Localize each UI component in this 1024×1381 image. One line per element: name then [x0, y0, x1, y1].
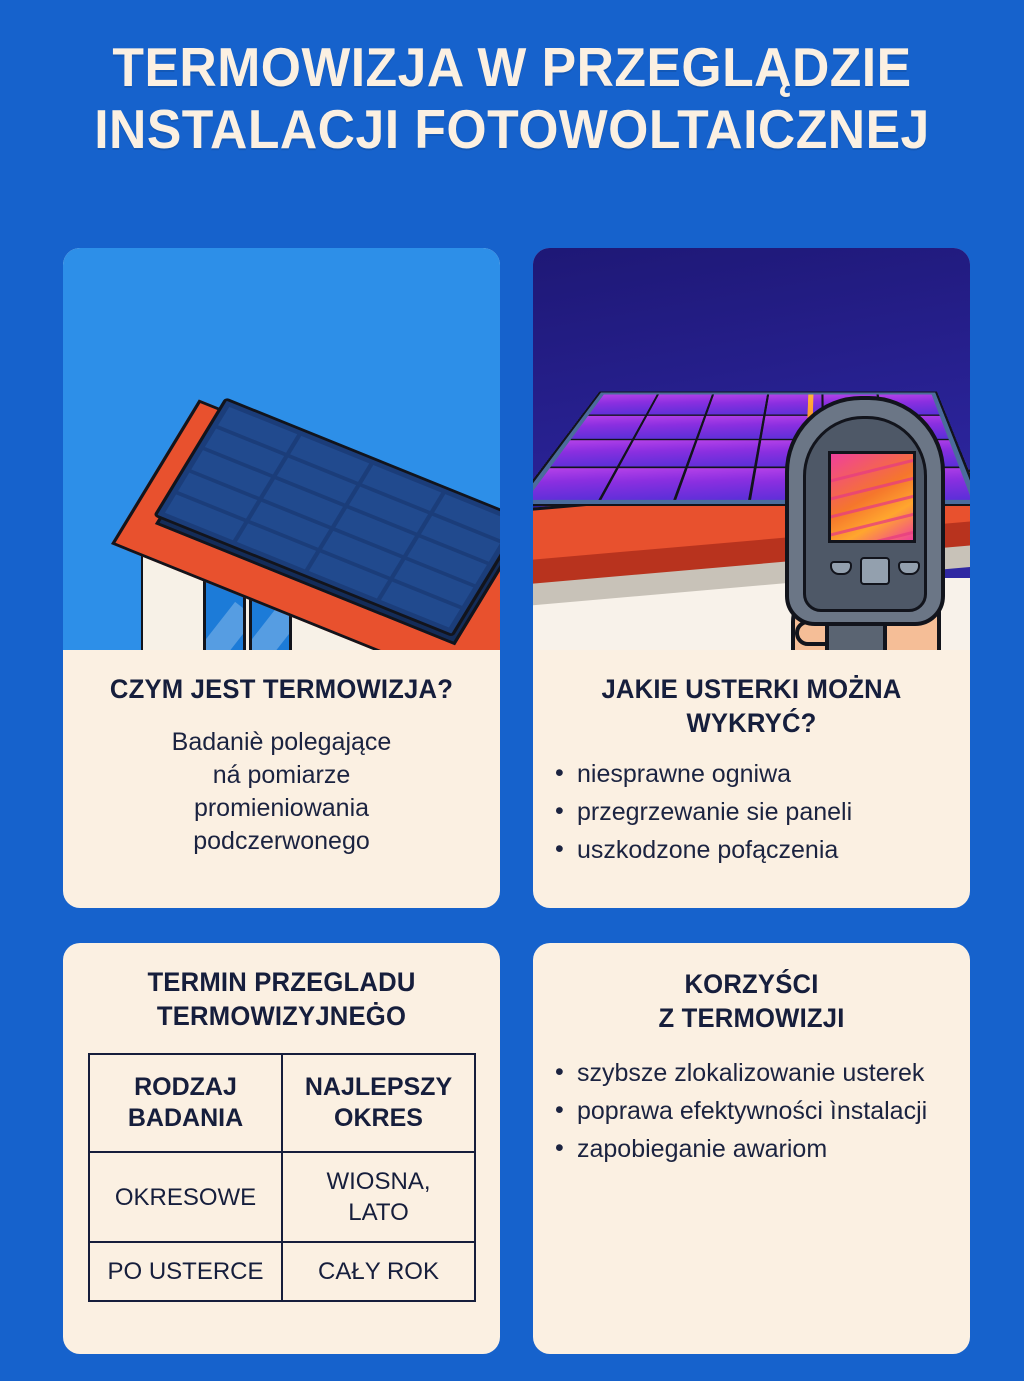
list-item: poprawa efektywności ìnstalacji: [577, 1095, 948, 1128]
table-header-row: RODZAJ BADANIA NAJLEPSZY OKRES: [89, 1054, 475, 1152]
table-row: OKRESOWE WIOSNA, LATO: [89, 1152, 475, 1242]
cell-line: WIOSNA,: [289, 1166, 468, 1197]
heading-line: KORZYŚCI: [544, 967, 959, 1001]
screen-grid-line: [828, 525, 916, 543]
faults-list: niesprawne ogniwa przegrzewanie sie pane…: [533, 758, 970, 867]
body-line: podczerwonego: [63, 825, 500, 858]
thermal-cell: [601, 468, 684, 499]
heading-line: TERMOWIZYJNEĠO: [91, 999, 472, 1033]
body-line: Badaniè polegające: [63, 726, 500, 759]
page-title: TERMOWIZJA W PRZEGLĄDZIE INSTALACJI FOTO…: [31, 36, 994, 160]
body-line: ná pomiarze: [63, 759, 500, 792]
cell-line: LATO: [289, 1197, 468, 1228]
camera-button-left[interactable]: [830, 561, 852, 575]
header-line: BADANIA: [96, 1103, 275, 1134]
illustration-house-with-solar-panel: [63, 248, 500, 650]
card-what-is-heading: CZYM JEST TERMOWIZJA?: [74, 672, 489, 706]
card-benefits: KORZYŚCI Z TERMOWIZJI szybsze zlokalizow…: [533, 943, 970, 1354]
thermal-cell: [676, 468, 753, 499]
header-line: OKRES: [289, 1103, 468, 1134]
heading-line: JAKIE USTERKI MOŻNA: [544, 672, 959, 706]
table-cell-period: WIOSNA, LATO: [282, 1152, 475, 1242]
window-sheen: [203, 602, 246, 650]
body-line: promieniowania: [63, 792, 500, 825]
thermal-camera: [785, 396, 945, 626]
list-item: uszkodzone pofączenia: [577, 834, 948, 867]
inspection-schedule-table: RODZAJ BADANIA NAJLEPSZY OKRES OKRESOWE …: [88, 1053, 476, 1302]
card-what-is-thermography: CZYM JEST TERMOWIZJA? Badaniè polegające…: [63, 248, 500, 908]
illustration-thermal-camera: [533, 248, 970, 650]
heading-line: WYKRYĆ?: [544, 706, 959, 740]
table-row: PO USTERCE CAŁY ROK: [89, 1242, 475, 1301]
heading-line: Z TERMOWIZJI: [544, 1001, 959, 1035]
thermal-cell: [589, 395, 656, 415]
benefits-list: szybsze zlokalizowanie usterek poprawa e…: [533, 1057, 970, 1166]
thermal-cell: [635, 416, 704, 439]
table-cell-period: CAŁY ROK: [282, 1242, 475, 1301]
card-benefits-heading: KORZYŚCI Z TERMOWIZJI: [544, 967, 959, 1035]
thermal-cell: [698, 416, 763, 439]
card-inspection-schedule: TERMIN PRZEGLADU TERMOWIZYJNEĠO RODZAJ B…: [63, 943, 500, 1354]
table-cell-type: PO USTERCE: [89, 1242, 282, 1301]
header-line: RODZAJ: [96, 1072, 275, 1103]
thermal-cell: [572, 416, 645, 439]
table-header-cell-period: NAJLEPSZY OKRES: [282, 1054, 475, 1152]
camera-face: [803, 416, 927, 612]
camera-screen: [828, 451, 916, 543]
page-title-line-1: TERMOWIZJA W PRZEGLĄDZIE: [31, 36, 994, 98]
card-term-heading: TERMIN PRZEGLADU TERMOWIZYJNEĠO: [91, 965, 472, 1033]
card-faults-heading: JAKIE USTERKI MOŻNA WYKRYĆ?: [544, 672, 959, 740]
card-detectable-faults: JAKIE USTERKI MOŻNA WYKRYĆ? niesprawne o…: [533, 248, 970, 908]
header-line: NAJLEPSZY: [289, 1072, 468, 1103]
thermal-cell: [707, 395, 767, 415]
table-cell-type: OKRESOWE: [89, 1152, 282, 1242]
heading-line: TERMIN PRZEGLADU: [91, 965, 472, 999]
thermal-cell: [648, 395, 712, 415]
thermal-cell: [551, 440, 632, 467]
camera-button-center[interactable]: [860, 557, 890, 585]
infographic-page: TERMOWIZJA W PRZEGLĄDZIE INSTALACJI FOTO…: [0, 0, 1024, 1381]
table-header-cell-type: RODZAJ BADANIA: [89, 1054, 282, 1152]
list-item: niesprawne ogniwa: [577, 758, 948, 791]
list-item: zapobieganie awariom: [577, 1133, 948, 1166]
camera-button-right[interactable]: [898, 561, 920, 575]
page-title-line-2: INSTALACJI FOTOWOLTAICZNEJ: [31, 98, 994, 160]
thermal-cell: [688, 440, 759, 467]
thermal-cell: [619, 440, 695, 467]
card-what-is-body: Badaniè polegające ná pomiarze promienio…: [63, 726, 500, 858]
list-item: przegrzewanie sie paneli: [577, 796, 948, 829]
list-item: szybsze zlokalizowanie usterek: [577, 1057, 948, 1090]
